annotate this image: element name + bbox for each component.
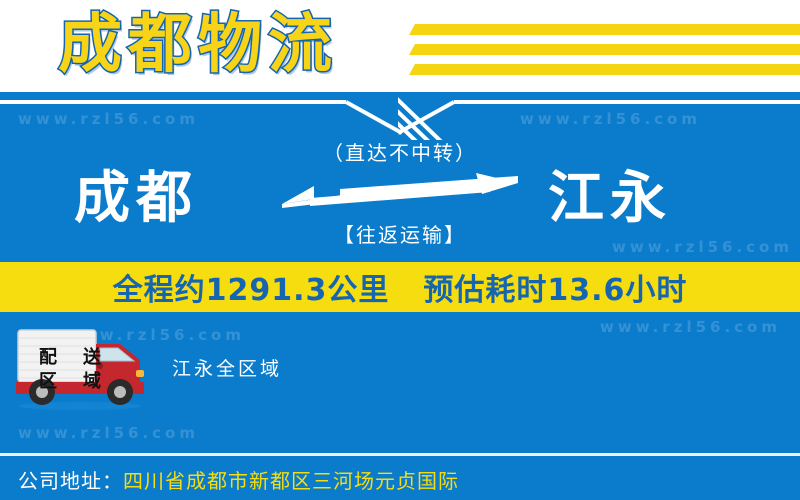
duration-text: 预估耗时13.6小时 [423, 265, 687, 309]
route-note-top: （直达不中转） [280, 140, 520, 166]
distance-text: 全程约1291.3公里 [113, 265, 390, 309]
logistics-banner: 成都物流 www.rzl56.com www.rzl56.com www.rzl… [0, 0, 800, 500]
address-value: 四川省成都市新都区三河场元贞国际 [123, 469, 459, 493]
stats-band: 全程约1291.3公里 预估耗时13.6小时 [0, 262, 800, 312]
company-address: 公司地址：四川省成都市新都区三河场元贞国际 [18, 465, 459, 494]
box-char-2: 送 [74, 346, 110, 370]
destination-city: 江永 [548, 168, 672, 230]
diagonal-slash-decor [398, 94, 518, 140]
stripe-2 [409, 44, 800, 55]
route-note-bottom: 【往返运输】 [280, 222, 520, 248]
delivery-row: 配 送 区 域 江永全区域 [0, 318, 800, 428]
origin-city: 成都 [74, 168, 198, 230]
banner-footer: 公司地址：四川省成都市新都区三河场元贞国际 [0, 456, 800, 500]
delivery-truck-icon: 配 送 区 域 [8, 326, 156, 410]
truck-box-label: 配 送 区 域 [30, 346, 110, 394]
box-char-1: 配 [30, 346, 66, 370]
decorative-stripes [412, 10, 800, 82]
page-title: 成都物流 [58, 2, 338, 88]
box-char-3: 区 [30, 370, 66, 394]
route-center-block: （直达不中转） 【往返运输】 [280, 140, 520, 248]
delivery-area-label: 江永全区域 [172, 354, 282, 381]
box-char-4: 域 [74, 370, 110, 394]
banner-header: 成都物流 [0, 0, 800, 92]
stripe-1 [409, 24, 800, 35]
header-rule-left [0, 100, 346, 104]
double-arrow-icon [280, 172, 520, 216]
address-label: 公司地址： [18, 469, 123, 493]
stripe-3 [409, 64, 800, 75]
